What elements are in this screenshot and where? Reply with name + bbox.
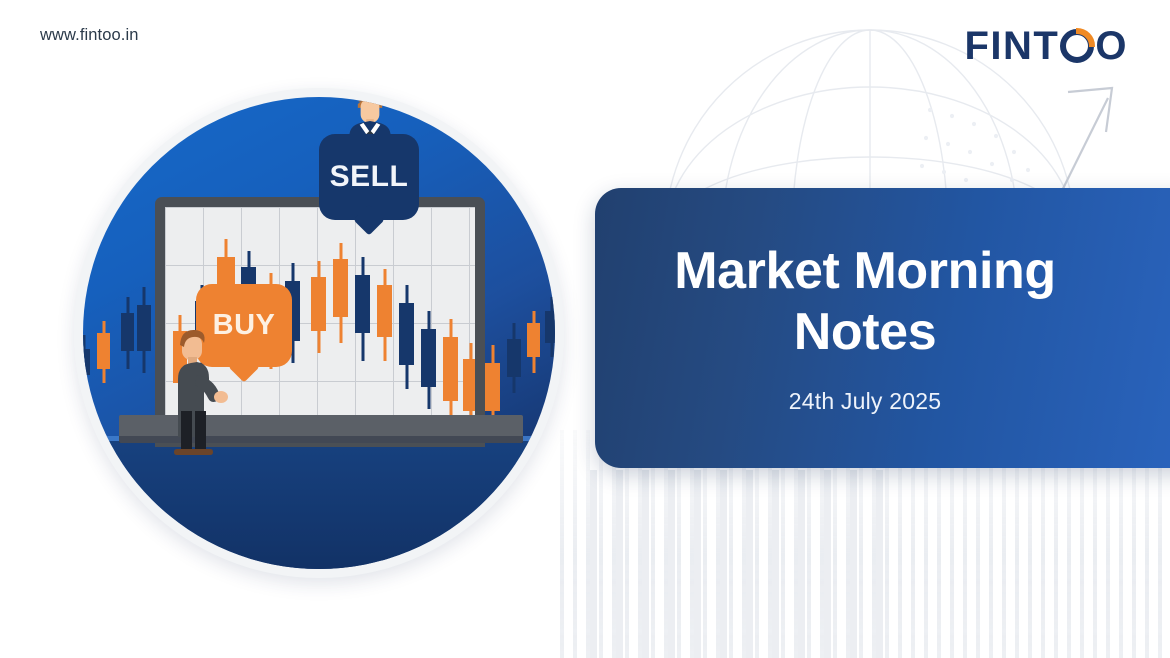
- sell-tag-label: SELL: [330, 160, 409, 194]
- bg-candle: [507, 323, 521, 393]
- trader-pointing-at-buy-tag: [167, 325, 231, 457]
- logo-text-o: O: [1095, 26, 1128, 66]
- bg-candle: [121, 297, 134, 369]
- logo-accent-o-icon: [1060, 29, 1094, 63]
- chart-candle: [377, 269, 392, 361]
- illustration-circle: SELL BUY: [83, 97, 555, 569]
- bg-candle: [97, 321, 110, 383]
- website-url[interactable]: www.fintoo.in: [40, 26, 139, 45]
- bg-candle: [83, 335, 90, 389]
- hero-illustration: SELL BUY: [74, 88, 564, 578]
- page-title: Market Morning Notes: [625, 241, 1105, 363]
- bg-candle: [137, 287, 151, 373]
- bg-candle: [527, 311, 540, 373]
- chart-candle: [399, 285, 414, 389]
- watermark-bar-chart-secondary: [590, 470, 890, 658]
- chart-candle: [333, 243, 348, 343]
- buy-tag-label: BUY: [213, 309, 276, 342]
- publication-date: 24th July 2025: [789, 388, 941, 415]
- chart-candle: [443, 319, 458, 425]
- chart-candle: [421, 311, 436, 409]
- chart-candle: [355, 257, 370, 361]
- sell-tag[interactable]: SELL: [319, 134, 419, 220]
- bg-candle: [545, 297, 555, 357]
- logo-text-fint: FINT: [965, 26, 1060, 66]
- fintoo-logo[interactable]: FINT O: [965, 26, 1129, 66]
- market-morning-notes-banner: www.fintoo.in FINT O: [0, 0, 1170, 658]
- chart-candle: [311, 261, 326, 353]
- title-card: Market Morning Notes 24th July 2025: [595, 188, 1170, 468]
- illustration-floor: [83, 441, 555, 569]
